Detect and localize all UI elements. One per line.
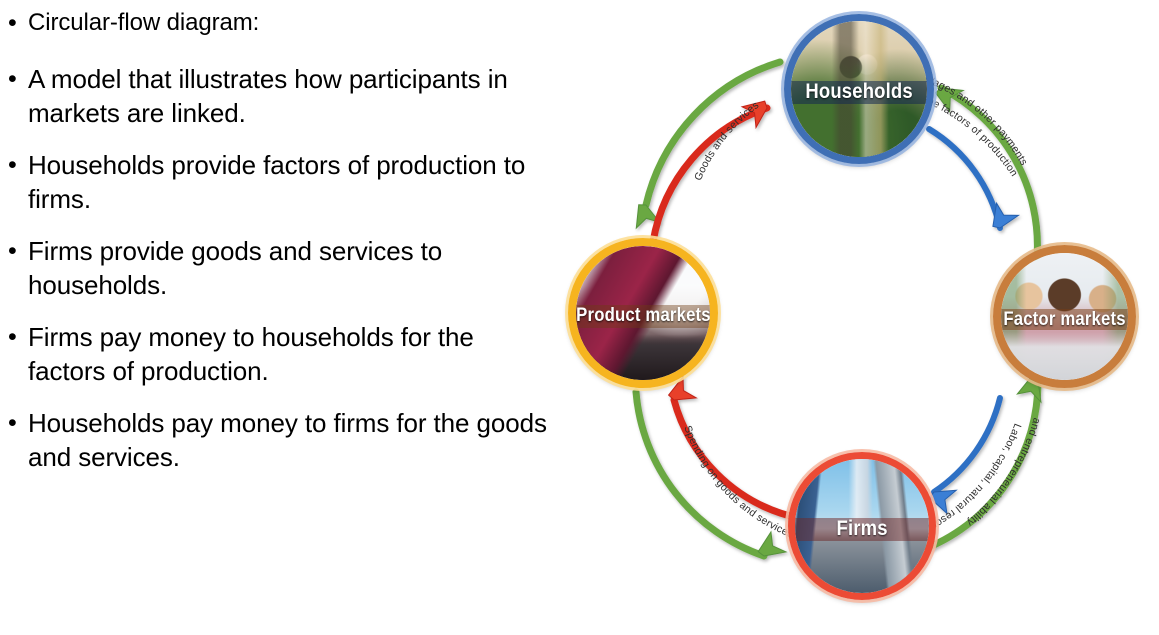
- bullet-firms-goods: Firms provide goods and services to hous…: [28, 234, 556, 302]
- node-label-banner: Product markets: [571, 305, 716, 328]
- bullet-definition: A model that illustrates how participant…: [28, 62, 556, 130]
- bullet-marker: •: [8, 406, 28, 440]
- bullet-households-factors: Households provide factors of production…: [28, 148, 556, 216]
- node-label-banner: Factor markets: [996, 309, 1133, 331]
- term-label: Circular-flow diagram: [28, 9, 253, 36]
- node-firms[interactable]: Firms: [788, 452, 936, 600]
- bullet-marker: •: [8, 234, 28, 268]
- bullet-marker: •: [8, 6, 28, 40]
- bullet-marker: •: [8, 62, 28, 96]
- node-label-households: Households: [805, 80, 913, 104]
- node-label-product-markets: Product markets: [576, 305, 711, 327]
- node-label-firms: Firms: [836, 517, 887, 541]
- flow-spending-on-goods: Spending on goods and services: [636, 377, 795, 566]
- list-item: • A model that illustrates how participa…: [8, 62, 556, 130]
- flow-label-spending-on-goods: Spending on goods and services: [681, 424, 795, 540]
- list-item: • Firms provide goods and services to ho…: [8, 234, 556, 302]
- list-item: • Firms pay money to households for the …: [8, 320, 556, 388]
- flow-label-wages-line1: Wages and other payments: [922, 73, 1030, 168]
- bullet-marker: •: [8, 148, 28, 182]
- node-label-banner: Households: [786, 81, 933, 104]
- node-label-factor-markets: Factor markets: [1003, 309, 1125, 331]
- list-item: • Households pay money to firms for the …: [8, 406, 556, 474]
- bullet-definition-heading: Circular-flow diagram:: [28, 6, 556, 40]
- node-households[interactable]: Households: [784, 14, 934, 164]
- bullet-households-pay: Households pay money to firms for the go…: [28, 406, 556, 474]
- term-colon: :: [253, 9, 260, 36]
- bullet-marker: •: [8, 320, 28, 354]
- flow-label-labor-line2: and entrepreneurial ability: [964, 416, 1043, 529]
- flow-goods-and-services: Goods and services: [631, 62, 780, 242]
- red-arrow-up-right: [653, 94, 774, 242]
- node-factor-markets[interactable]: Factor markets: [993, 245, 1136, 388]
- node-product-markets[interactable]: Product markets: [568, 238, 718, 388]
- node-label-banner: Firms: [790, 518, 935, 541]
- bullet-list: • Circular-flow diagram: • A model that …: [8, 6, 556, 566]
- list-item: • Circular-flow diagram:: [8, 6, 556, 40]
- circular-flow-diagram: Goods and services Wages and other payme…: [548, 0, 1159, 635]
- list-item: • Households provide factors of producti…: [8, 148, 556, 216]
- bullet-firms-pay: Firms pay money to households for the fa…: [28, 320, 556, 388]
